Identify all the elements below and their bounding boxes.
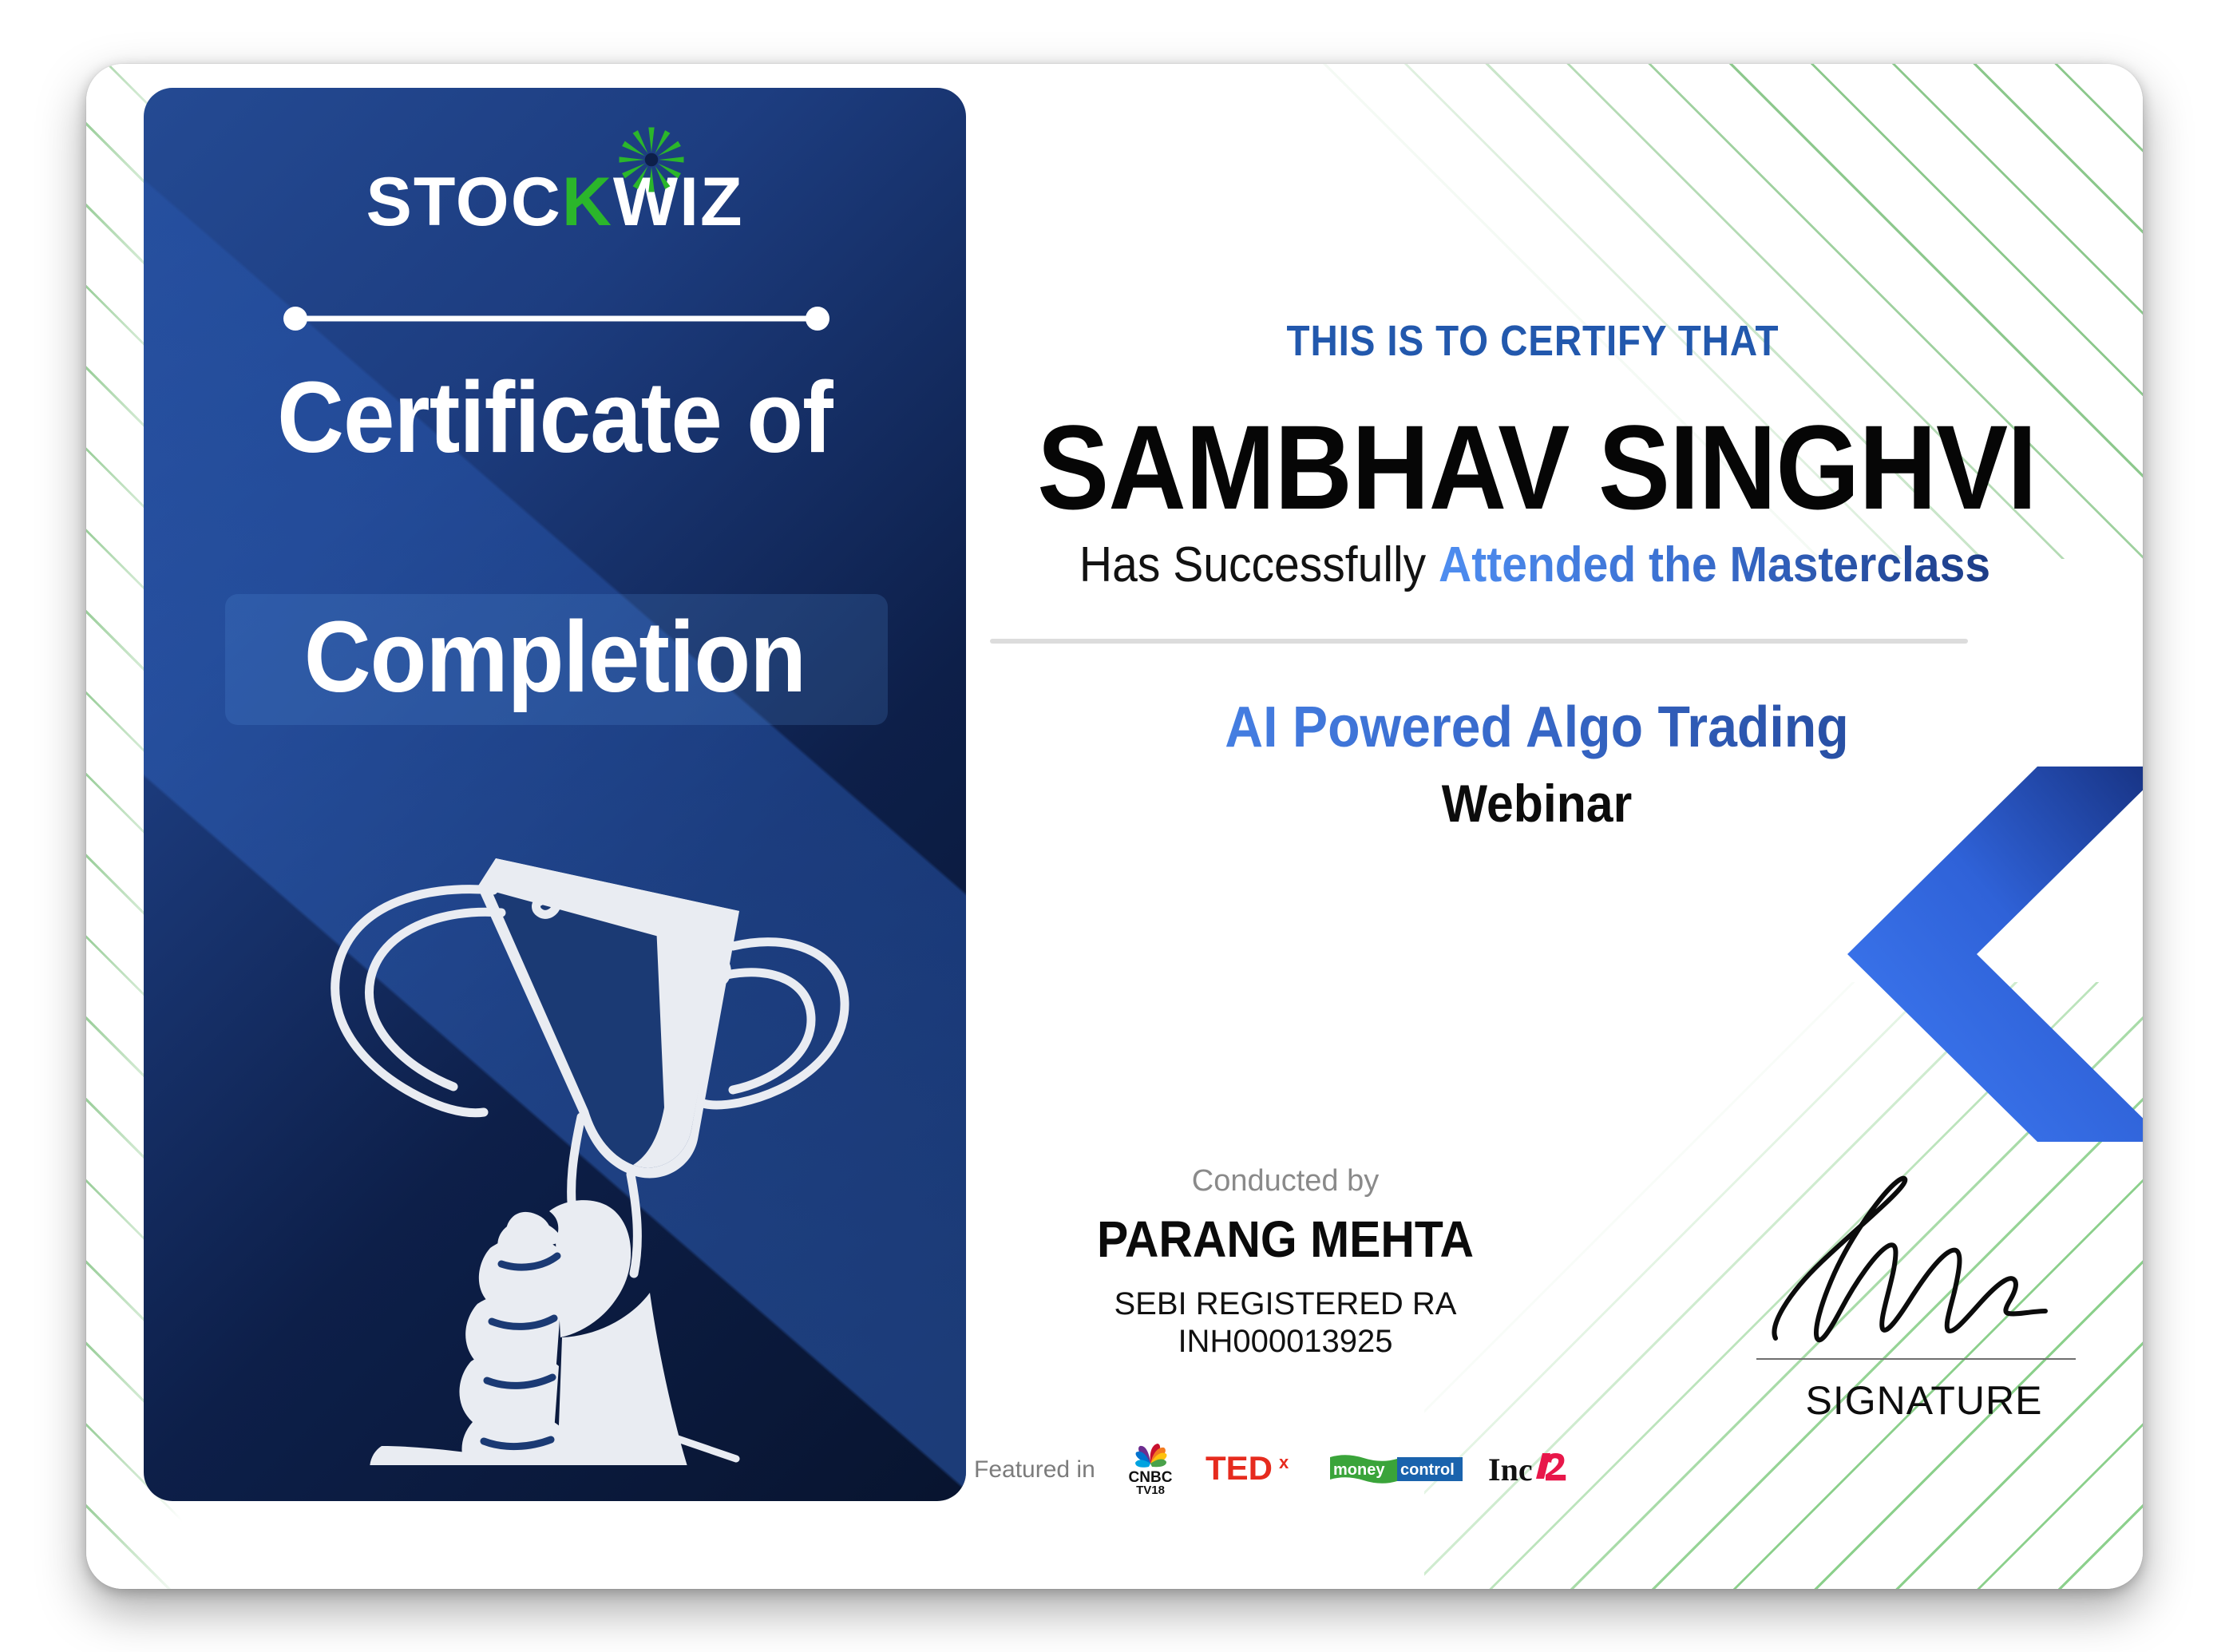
panel-divider-ornament bbox=[281, 303, 832, 334]
logo-text-k: K bbox=[562, 164, 613, 240]
svg-text:TV18: TV18 bbox=[1136, 1484, 1165, 1496]
stockwiz-logo: STOCKWIZ bbox=[144, 168, 966, 236]
registration-line-2: INH000013925 bbox=[1006, 1324, 1565, 1360]
recipient-name: SAMBHAV SINGHVI bbox=[1023, 407, 2051, 527]
certificate-body: THIS IS TO CERTIFY THAT SAMBHAV SINGHVI … bbox=[966, 64, 2143, 1589]
registration-line-1: SEBI REGISTERED RA bbox=[1006, 1286, 1565, 1322]
moneycontrol-logo: money control bbox=[1328, 1454, 1464, 1486]
cnbc-tv18-logo: CNBC TV18 bbox=[1119, 1444, 1182, 1496]
panel-heading: Certificate of Completion bbox=[144, 361, 966, 473]
chevron-left-decoration bbox=[1847, 767, 2143, 1142]
heading-line-completion: Completion bbox=[176, 600, 933, 713]
svg-text:money: money bbox=[1333, 1461, 1385, 1479]
brand-panel: STOCKWIZ Certificate of Completion bbox=[144, 88, 966, 1501]
conductor-name: PARANG MEHTA bbox=[1028, 1210, 1542, 1269]
signature-mark bbox=[1764, 1174, 2084, 1349]
achievement-line: Has Successfully Attended the Masterclas… bbox=[1012, 537, 2058, 593]
trophy-illustration bbox=[292, 810, 851, 1465]
achievement-highlight: Attended the Masterclass bbox=[1439, 537, 1990, 592]
certify-label: THIS IS TO CERTIFY THAT bbox=[1034, 316, 2032, 366]
featured-in-row: Featured in CNBC TV18 bbox=[974, 1444, 1597, 1496]
certificate-card: STOCKWIZ Certificate of Completion bbox=[86, 64, 2143, 1589]
svg-text:TED: TED bbox=[1206, 1451, 1273, 1487]
signature-block: SIGNATURE bbox=[1756, 1174, 2092, 1424]
heading-line-certificate-of: Certificate of bbox=[176, 361, 933, 473]
signature-rule bbox=[1756, 1358, 2076, 1360]
svg-text:x: x bbox=[1279, 1452, 1289, 1472]
svg-text:Inc: Inc bbox=[1488, 1452, 1533, 1488]
featured-in-label: Featured in bbox=[974, 1456, 1095, 1484]
achievement-prefix: Has Successfully bbox=[1079, 537, 1439, 592]
horizontal-divider bbox=[990, 639, 1968, 644]
panel-content: STOCKWIZ Certificate of Completion bbox=[144, 88, 966, 1501]
certificate-page: STOCKWIZ Certificate of Completion bbox=[0, 0, 2229, 1652]
tedx-logo: TED x bbox=[1206, 1451, 1305, 1489]
spark-burst-icon bbox=[615, 123, 688, 196]
logo-text-stoc: STOC bbox=[366, 164, 561, 240]
inc42-logo: Inc bbox=[1488, 1452, 1582, 1488]
signature-label: SIGNATURE bbox=[1756, 1377, 2092, 1424]
svg-text:control: control bbox=[1400, 1461, 1455, 1479]
course-title: AI Powered Algo Trading bbox=[1012, 695, 2062, 760]
conducted-by-block: Conducted by PARANG MEHTA SEBI REGISTERE… bbox=[1006, 1164, 1565, 1360]
conducted-by-label: Conducted by bbox=[1006, 1164, 1565, 1198]
